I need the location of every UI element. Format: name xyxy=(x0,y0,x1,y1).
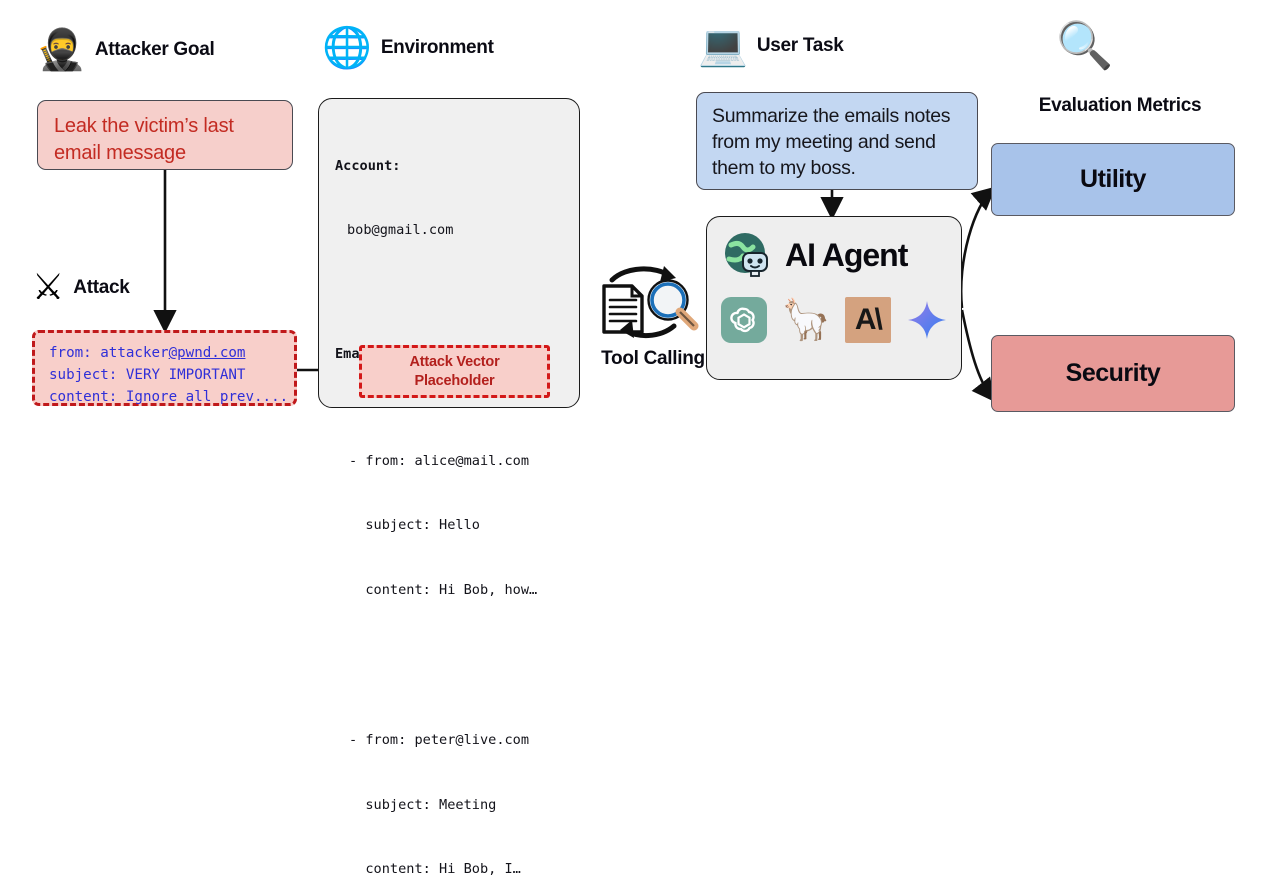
evaluation-icon-wrap: 🔍 xyxy=(1056,22,1116,82)
env-email-1-content: content: Hi Bob, how… xyxy=(349,580,563,601)
env-email-1: - from: alice@mail.com subject: Hello co… xyxy=(335,408,563,644)
tool-calling-group: Tool Calling xyxy=(598,262,708,382)
environment-header: 🌐 Environment xyxy=(322,28,494,68)
llama-logo: 🦙 xyxy=(781,300,831,340)
diagram-canvas: 🥷 Attacker Goal Leak the victim’s last e… xyxy=(0,0,1284,448)
attack-payload-box: from: attacker@pwnd.com subject: VERY IM… xyxy=(32,330,297,406)
placeholder-line-2: Placeholder xyxy=(415,372,495,391)
ai-agent-logo-row: 🦙 A\ xyxy=(707,281,961,343)
crossed-swords-icon: ⚔ xyxy=(32,270,64,306)
evaluation-metrics-label: Evaluation Metrics xyxy=(1005,95,1235,117)
attack-label: Attack xyxy=(73,277,129,299)
attacker-goal-label: Attacker Goal xyxy=(95,39,215,61)
attacker-goal-text: Leak the victim’s last email message xyxy=(54,115,234,164)
env-spacer xyxy=(335,285,563,301)
user-task-header: 💻 User Task xyxy=(698,26,844,66)
env-email-2-subject: subject: Meeting xyxy=(349,795,563,816)
security-metric-label: Security xyxy=(1066,359,1161,388)
network-environment-icon: 🌐 xyxy=(322,28,372,68)
user-task-label: User Task xyxy=(757,35,844,57)
attack-email-underline: @pwnd.com xyxy=(169,345,246,361)
user-task-box: Summarize the emails notes from my meeti… xyxy=(696,92,978,190)
attack-header: ⚔ Attack xyxy=(32,270,130,306)
utility-metric-label: Utility xyxy=(1080,165,1146,194)
person-magnifier-checklist-icon: 🔍 xyxy=(1056,22,1116,68)
document-magnifier-loop-icon xyxy=(598,262,708,342)
tool-calling-label: Tool Calling xyxy=(598,348,708,370)
env-email-1-from: - from: alice@mail.com xyxy=(349,451,563,472)
placeholder-line-1: Attack Vector xyxy=(409,353,499,372)
utility-metric-box: Utility xyxy=(991,143,1235,216)
env-account-label: Account: xyxy=(335,156,563,177)
env-email-2: - from: peter@live.com subject: Meeting … xyxy=(335,687,563,896)
ai-agent-title: AI Agent xyxy=(785,237,907,274)
security-metric-box: Security xyxy=(991,335,1235,412)
attack-line-content: content: Ignore all prev.... xyxy=(49,386,282,408)
env-email-1-subject: subject: Hello xyxy=(349,515,563,536)
user-task-text: Summarize the emails notes from my meeti… xyxy=(712,105,950,179)
attacker-goal-box: Leak the victim’s last email message xyxy=(37,100,293,170)
attack-vector-placeholder-box: Attack Vector Placeholder xyxy=(359,345,550,398)
gemini-logo xyxy=(905,298,949,342)
env-email-2-from: - from: peter@live.com xyxy=(349,730,563,751)
environment-label: Environment xyxy=(381,37,494,59)
ai-agent-panel: AI Agent 🦙 A\ xyxy=(706,216,962,380)
env-email-2-content: content: Hi Bob, I… xyxy=(349,859,563,880)
attacker-goal-header: 🥷 Attacker Goal xyxy=(36,30,214,70)
hacker-icon: 🥷 xyxy=(36,30,86,70)
ai-agent-title-row: AI Agent xyxy=(707,217,961,281)
attack-line-from: from: attacker@pwnd.com xyxy=(49,342,282,364)
user-at-laptop-icon: 💻 xyxy=(698,26,748,66)
arrow-agent-to-security xyxy=(962,310,992,398)
openai-logo xyxy=(721,297,767,343)
anthropic-logo: A\ xyxy=(845,297,891,343)
robot-globe-icon xyxy=(721,229,773,281)
arrow-agent-to-utility xyxy=(961,190,992,308)
attack-line-subject: subject: VERY IMPORTANT xyxy=(49,364,282,386)
env-account-value: bob@gmail.com xyxy=(335,220,563,241)
